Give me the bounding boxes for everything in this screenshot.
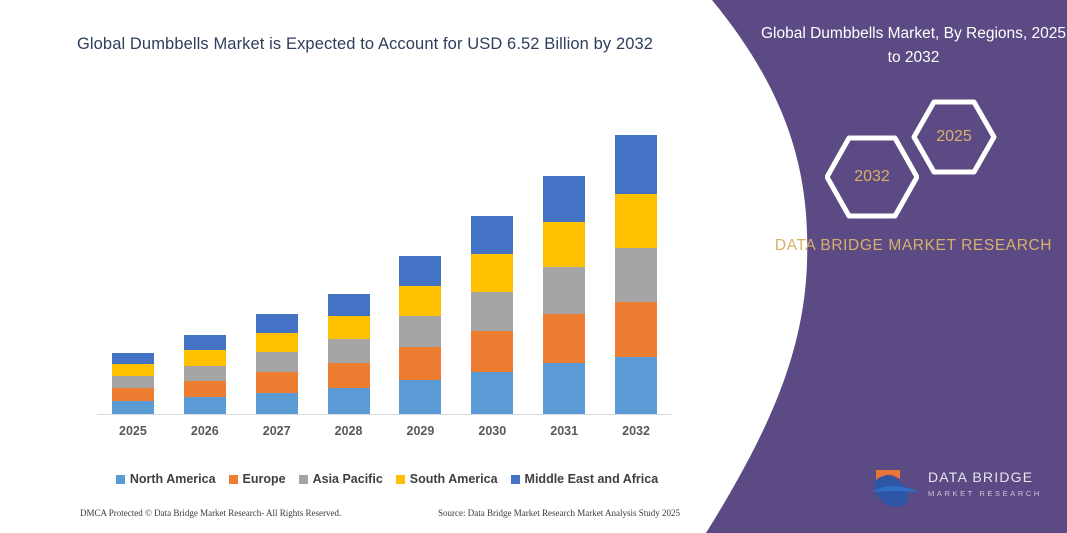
hexagon-front-label: 2025 xyxy=(936,128,972,146)
bar-segment xyxy=(256,352,298,372)
legend-label: Middle East and Africa xyxy=(525,472,659,486)
legend-swatch-icon xyxy=(229,475,238,484)
chart-title: Global Dumbbells Market is Expected to A… xyxy=(75,32,655,58)
bar-column xyxy=(615,135,657,414)
bar-segment xyxy=(471,292,513,331)
x-axis-line xyxy=(97,414,672,415)
x-axis-label-2032: 2032 xyxy=(600,424,672,438)
legend-swatch-icon xyxy=(116,475,125,484)
logo-wordmark: DATA BRIDGE MARKET RESEARCH xyxy=(928,469,1062,499)
legend-swatch-icon xyxy=(511,475,520,484)
bar-segment xyxy=(184,366,226,381)
bar-segment xyxy=(543,314,585,363)
bar-segment xyxy=(112,353,154,364)
hexagon-badge-back: 2032 xyxy=(825,134,919,220)
legend-item[interactable]: Asia Pacific xyxy=(299,472,383,486)
bar-segment xyxy=(615,135,657,194)
bar-segment xyxy=(328,363,370,388)
bar-segment xyxy=(471,216,513,254)
legend-swatch-icon xyxy=(396,475,405,484)
bar-segment xyxy=(615,194,657,248)
legend-label: Asia Pacific xyxy=(313,472,383,486)
bar-column xyxy=(399,256,441,414)
bar-segment xyxy=(399,347,441,380)
bar-segment xyxy=(471,372,513,414)
x-axis-label-2028: 2028 xyxy=(313,424,385,438)
bar-column xyxy=(471,216,513,414)
bar-segment xyxy=(256,393,298,414)
logo-mark-icon xyxy=(870,466,926,512)
hexagon-badges: 2032 2025 xyxy=(815,96,1015,206)
bar-segment xyxy=(328,339,370,363)
bar-column xyxy=(328,294,370,414)
footer-bar: DMCA Protected © Data Bridge Market Rese… xyxy=(80,508,680,518)
bar-segment xyxy=(256,372,298,393)
x-axis-label-2031: 2031 xyxy=(528,424,600,438)
legend-item[interactable]: South America xyxy=(396,472,498,486)
bar-segment xyxy=(328,316,370,339)
footer-source: Source: Data Bridge Market Research Mark… xyxy=(438,508,680,518)
logo-line-2: MARKET RESEARCH xyxy=(928,489,1062,499)
legend-label: South America xyxy=(410,472,498,486)
bar-column xyxy=(543,176,585,414)
x-axis-label-2027: 2027 xyxy=(241,424,313,438)
bar-segment xyxy=(399,380,441,414)
logo-line-1: DATA BRIDGE xyxy=(928,469,1062,486)
bar-segment xyxy=(184,381,226,397)
chart-pane: Global Dumbbells Market is Expected to A… xyxy=(0,0,700,533)
bar-segment xyxy=(399,256,441,286)
x-axis-label-2025: 2025 xyxy=(97,424,169,438)
chart-plot-area xyxy=(97,110,672,415)
bar-segment xyxy=(615,302,657,357)
bar-segment xyxy=(615,357,657,414)
bar-segment xyxy=(184,350,226,366)
x-axis-label-2026: 2026 xyxy=(169,424,241,438)
bar-segment xyxy=(471,331,513,372)
bar-segment xyxy=(184,335,226,350)
legend-item[interactable]: North America xyxy=(116,472,216,486)
bar-segment xyxy=(471,254,513,292)
bar-column xyxy=(112,353,154,414)
x-axis-tick-labels: 20252026202720282029203020312032 xyxy=(97,424,672,444)
bar-segment xyxy=(112,364,154,376)
legend-label: North America xyxy=(130,472,216,486)
legend-label: Europe xyxy=(243,472,286,486)
bar-segment xyxy=(399,316,441,347)
hexagon-back-label: 2032 xyxy=(854,168,890,186)
legend-swatch-icon xyxy=(299,475,308,484)
bar-segment xyxy=(184,397,226,414)
legend-item[interactable]: Middle East and Africa xyxy=(511,472,659,486)
bar-segment xyxy=(543,363,585,414)
bar-segment xyxy=(112,376,154,388)
chart-legend: North AmericaEuropeAsia PacificSouth Ame… xyxy=(97,472,677,486)
bar-segment xyxy=(112,388,154,401)
bar-segment xyxy=(256,333,298,352)
brand-name: DATA BRIDGE MARKET RESEARCH xyxy=(760,234,1067,259)
bar-column xyxy=(256,314,298,414)
brand-pane: Global Dumbbells Market, By Regions, 202… xyxy=(760,0,1067,533)
hexagon-badge-front: 2025 xyxy=(911,98,997,176)
panel-title: Global Dumbbells Market, By Regions, 202… xyxy=(760,22,1067,70)
data-bridge-logo: DATA BRIDGE MARKET RESEARCH xyxy=(870,466,1060,516)
bar-segment xyxy=(399,286,441,316)
bar-segment xyxy=(328,294,370,316)
footer-copyright: DMCA Protected © Data Bridge Market Rese… xyxy=(80,508,341,518)
bar-segment xyxy=(112,401,154,414)
x-axis-label-2029: 2029 xyxy=(384,424,456,438)
bar-segment xyxy=(543,176,585,222)
bar-segment xyxy=(615,248,657,302)
bar-column xyxy=(184,335,226,414)
bar-segment xyxy=(543,222,585,267)
bar-segment xyxy=(328,388,370,414)
infographic-canvas: Global Dumbbells Market is Expected to A… xyxy=(0,0,1067,533)
bar-segment xyxy=(543,267,585,314)
legend-item[interactable]: Europe xyxy=(229,472,286,486)
bar-segment xyxy=(256,314,298,333)
x-axis-label-2030: 2030 xyxy=(456,424,528,438)
